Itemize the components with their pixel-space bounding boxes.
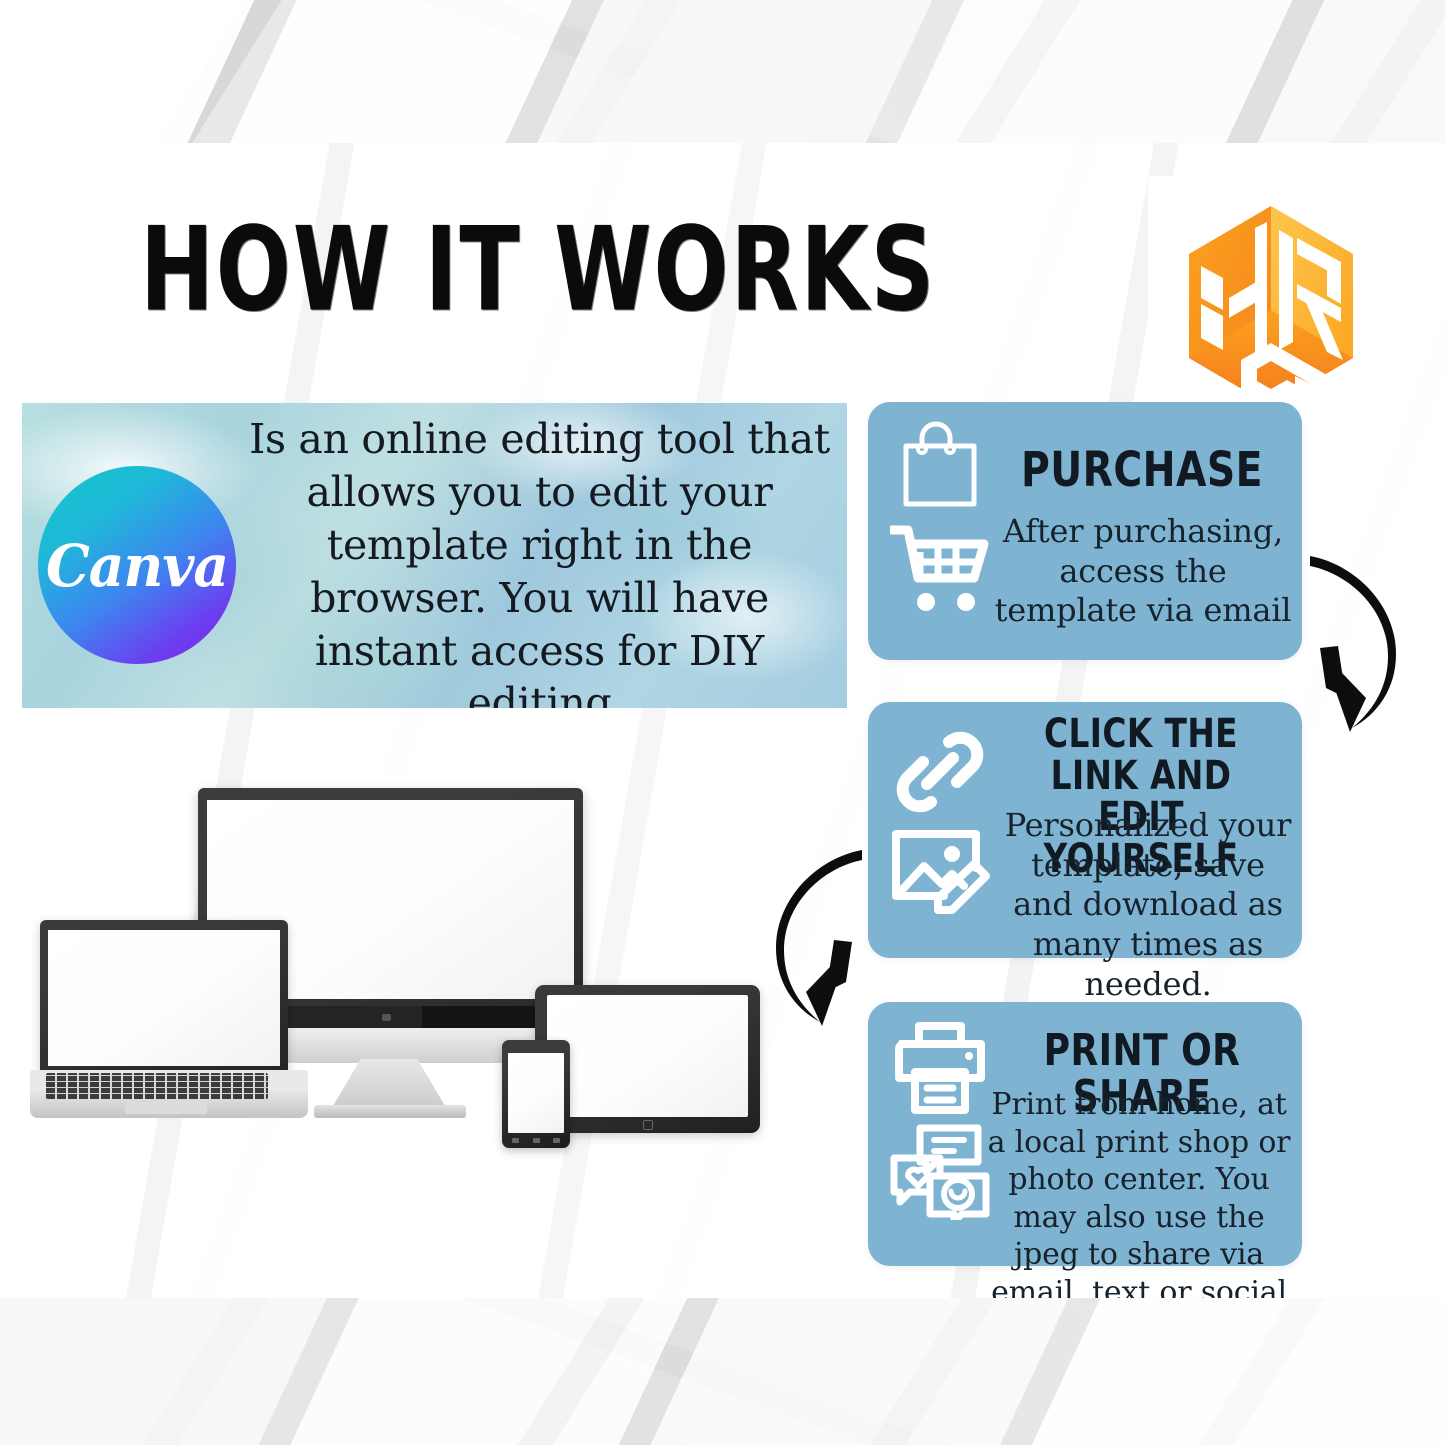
click-link-icon-group xyxy=(882,728,997,914)
click-link-body: Personalized your template, save and dow… xyxy=(1004,806,1292,1004)
canva-wordmark: Canva xyxy=(46,531,228,599)
monitor-stand xyxy=(330,1059,448,1111)
printer-icon xyxy=(891,1020,989,1116)
device-mockup-image xyxy=(30,770,770,1170)
laptop-screen xyxy=(48,930,280,1066)
smartphone xyxy=(502,1040,570,1148)
tablet-screen xyxy=(547,995,748,1117)
purchase-icon-group xyxy=(882,416,997,616)
arrow-1-glyph xyxy=(1292,548,1420,738)
curved-arrow-down-left xyxy=(1292,548,1420,738)
link-chain-icon xyxy=(891,728,989,816)
chat-bubbles-icon xyxy=(890,1124,990,1220)
arrow-2-glyph xyxy=(752,842,880,1034)
hrg-cube-icon xyxy=(1171,200,1371,412)
monitor-base xyxy=(314,1105,466,1118)
step-card-purchase[interactable]: PURCHASE After purchasing, access the te… xyxy=(868,402,1302,660)
laptop xyxy=(40,920,288,1072)
image-edit-pencil-icon xyxy=(890,824,990,914)
canva-info-panel: Canva Is an online editing tool that all… xyxy=(22,403,847,708)
curved-arrow-down-right xyxy=(752,842,880,1034)
laptop-keyboard xyxy=(46,1073,268,1099)
print-share-body: Print from home, at a local print shop o… xyxy=(982,1086,1296,1298)
print-share-icon-group xyxy=(882,1020,997,1220)
laptop-trackpad xyxy=(125,1102,207,1114)
phone-screen xyxy=(508,1053,564,1133)
step-card-print-or-share[interactable]: PRINT OR SHARE Print from home, at a loc… xyxy=(868,1002,1302,1266)
shopping-cart-icon xyxy=(890,524,990,616)
purchase-heading: PURCHASE xyxy=(1016,446,1269,496)
page-title: HOW IT WORKS xyxy=(140,213,810,329)
infographic-canvas: HOW IT WORKS xyxy=(0,0,1445,1445)
canva-description: Is an online editing tool that allows yo… xyxy=(242,413,837,708)
tablet-home-button xyxy=(643,1120,653,1130)
purchase-body: After purchasing, access the template vi… xyxy=(994,512,1292,631)
brand-logo xyxy=(1148,176,1394,436)
step-card-click-the-link[interactable]: CLICK THE LINK AND EDIT YOURSELF Persona… xyxy=(868,702,1302,958)
canva-logo-badge: Canva xyxy=(38,466,236,664)
content-panel: HOW IT WORKS xyxy=(0,143,1445,1298)
shopping-bag-icon xyxy=(894,416,986,516)
phone-nav-buttons xyxy=(512,1137,560,1144)
